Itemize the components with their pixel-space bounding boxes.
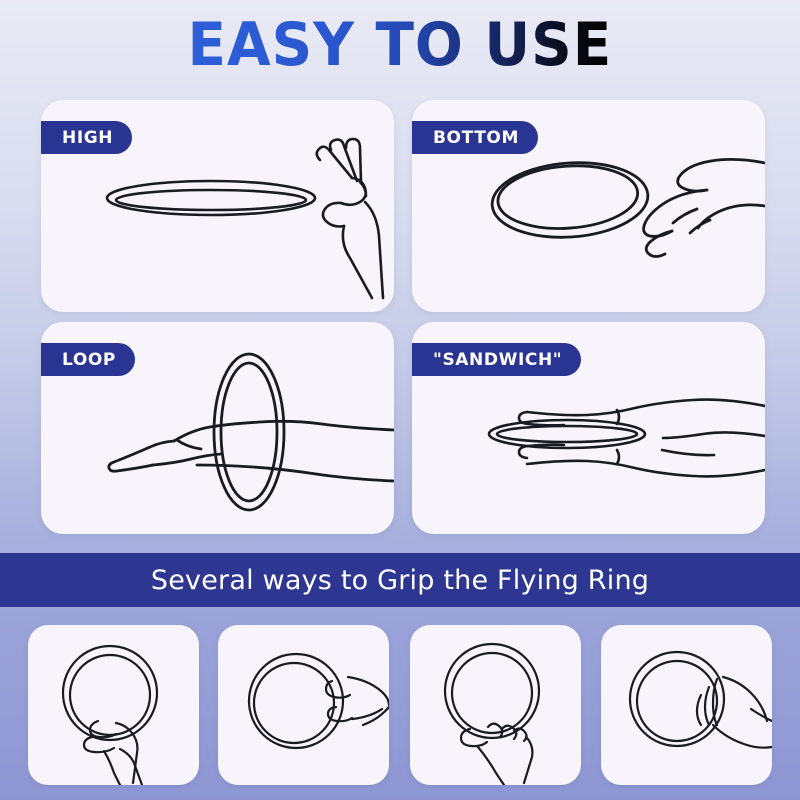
- infographic-page: EASY TO USE: [0, 0, 800, 800]
- grip-card-4[interactable]: [601, 625, 772, 785]
- technique-card-bottom[interactable]: BOTTOM: [412, 100, 765, 312]
- badge-loop: LOOP: [41, 343, 135, 376]
- grip-card-2[interactable]: [218, 625, 389, 785]
- illustration-grip-1: [28, 625, 199, 785]
- technique-card-sandwich[interactable]: "SANDWICH": [412, 322, 765, 534]
- badge-high: HIGH: [41, 121, 132, 154]
- section-banner: Several ways to Grip the Flying Ring: [0, 553, 800, 607]
- page-title: EASY TO USE: [188, 14, 613, 76]
- banner-text: Several ways to Grip the Flying Ring: [151, 565, 649, 596]
- illustration-grip-2: [218, 625, 389, 785]
- page-title-wrap: EASY TO USE: [0, 14, 800, 76]
- illustration-grip-3: [410, 625, 581, 785]
- technique-card-loop[interactable]: LOOP: [41, 322, 394, 534]
- illustration-grip-4: [601, 625, 772, 785]
- badge-sandwich: "SANDWICH": [412, 343, 581, 376]
- badge-bottom: BOTTOM: [412, 121, 538, 154]
- technique-card-high[interactable]: HIGH: [41, 100, 394, 312]
- grip-card-1[interactable]: [28, 625, 199, 785]
- grip-card-3[interactable]: [410, 625, 581, 785]
